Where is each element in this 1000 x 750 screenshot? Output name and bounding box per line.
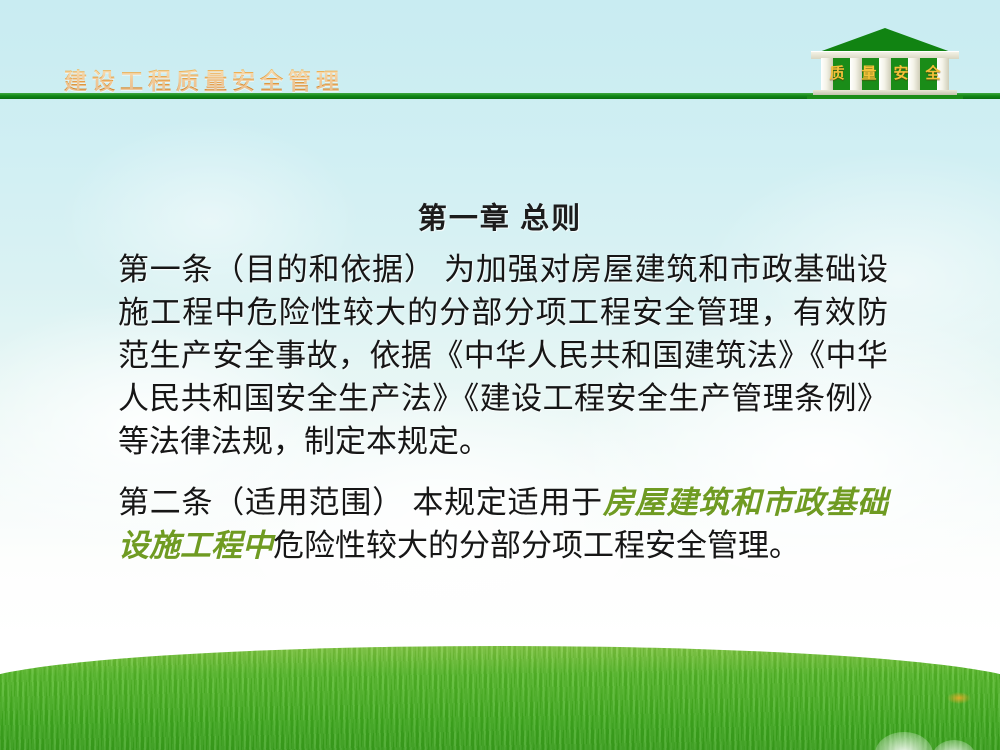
grass-texture: [0, 646, 1000, 750]
logo-char: 全: [925, 62, 940, 83]
body-text-block: 第一条（目的和依据） 为加强对房屋建筑和市政基础设施工程中危险性较大的分部分项工…: [118, 248, 888, 567]
logo-char: 量: [861, 62, 876, 83]
header-title: 建设工程质量安全管理: [64, 62, 344, 96]
paragraph-article-2: 第二条（适用范围） 本规定适用于房屋建筑和市政基础设施工程中危险性较大的分部分项…: [118, 481, 888, 567]
text-run: 危险性较大的分部分项工程安全管理。: [273, 528, 800, 563]
temple-roof-icon: [819, 28, 951, 52]
text-run: 第一条（目的和依据） 为加强对房屋建筑和市政基础设施工程中危险性较大的分部分项工…: [118, 252, 888, 459]
logo-text: 质 量 安 全: [821, 62, 949, 83]
quality-safety-logo: 质 量 安 全: [805, 28, 965, 98]
chapter-title: 第一章 总则: [0, 195, 1000, 237]
slide-canvas: 建设工程质量安全管理 质 量 安 全 第一章 总则 第一条（目的和依据） 为加强…: [0, 0, 1000, 750]
logo-char: 安: [893, 62, 908, 83]
paragraph-article-1: 第一条（目的和依据） 为加强对房屋建筑和市政基础设施工程中危险性较大的分部分项工…: [118, 248, 888, 463]
text-run: 第二条（适用范围） 本规定适用于: [118, 485, 603, 520]
grass-field-decoration: [0, 646, 1000, 750]
logo-char: 质: [829, 62, 844, 83]
flower-decoration: [947, 692, 971, 704]
temple-plinth-icon: [807, 95, 963, 99]
